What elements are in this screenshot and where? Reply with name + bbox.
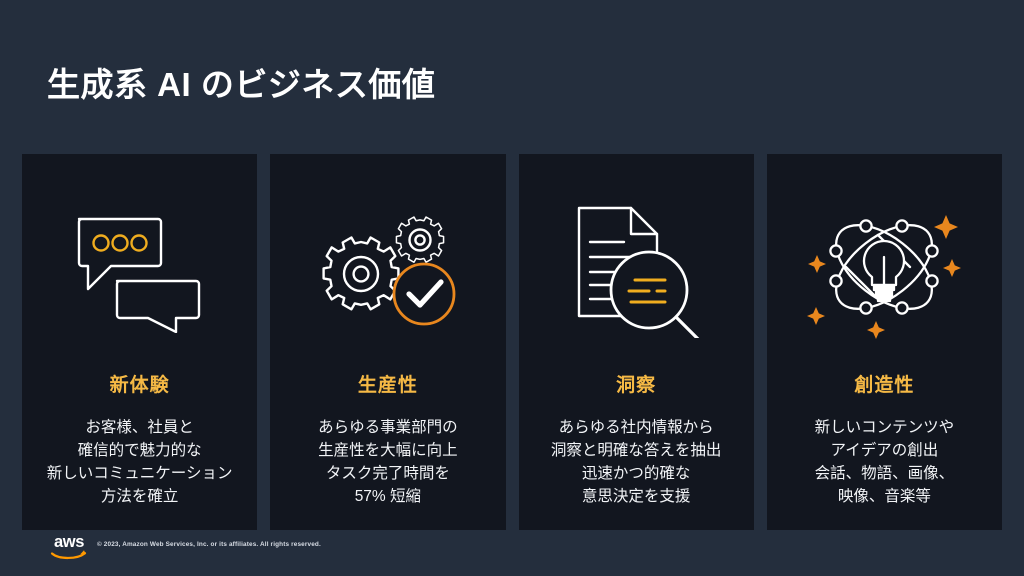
copyright-text: © 2023, Amazon Web Services, Inc. or its…	[97, 541, 321, 548]
value-card-creativity[interactable]: 創造性 新しいコンテンツや アイデアの創出 会話、物語、画像、 映像、音楽等	[767, 154, 1002, 530]
card-body-text: あらゆる社内情報から 洞察と明確な答えを抽出 迅速かつ的確な 意思決定を支援	[543, 417, 730, 509]
gears-check-icon	[270, 168, 505, 368]
card-heading: 創造性	[854, 370, 914, 397]
value-card-new-experience[interactable]: 新体験 お客様、社員と 確信的で魅力的な 新しいコミュニケーション 方法を確立	[22, 154, 257, 530]
chat-bubbles-icon	[22, 168, 257, 368]
slide-footer: aws © 2023, Amazon Web Services, Inc. or…	[0, 530, 1024, 576]
card-heading: 新体験	[110, 370, 170, 397]
page-title: 生成系 AI のビジネス価値	[47, 64, 435, 105]
value-card-insight[interactable]: 洞察 あらゆる社内情報から 洞察と明確な答えを抽出 迅速かつ的確な 意思決定を支…	[519, 154, 754, 530]
value-card-list: 新体験 お客様、社員と 確信的で魅力的な 新しいコミュニケーション 方法を確立	[22, 154, 1002, 530]
value-card-productivity[interactable]: 生産性 あらゆる事業部門の 生産性を大幅に向上 タスク完了時間を 57% 短縮	[270, 154, 505, 530]
card-body-text: あらゆる事業部門の 生産性を大幅に向上 タスク完了時間を 57% 短縮	[310, 417, 466, 509]
svg-text:aws: aws	[54, 533, 84, 551]
card-heading: 生産性	[358, 370, 418, 397]
atom-lightbulb-icon	[767, 168, 1002, 368]
aws-logo-icon: aws	[46, 533, 92, 561]
document-magnifier-icon	[519, 168, 754, 368]
card-body-text: お客様、社員と 確信的で魅力的な 新しいコミュニケーション 方法を確立	[39, 417, 241, 509]
slide-canvas: 生成系 AI のビジネス価値 新体験 お客様、社員と 確信的で魅力的な 新しいコ…	[0, 0, 1024, 576]
card-body-text: 新しいコンテンツや アイデアの創出 会話、物語、画像、 映像、音楽等	[807, 417, 963, 509]
card-heading: 洞察	[616, 370, 656, 397]
